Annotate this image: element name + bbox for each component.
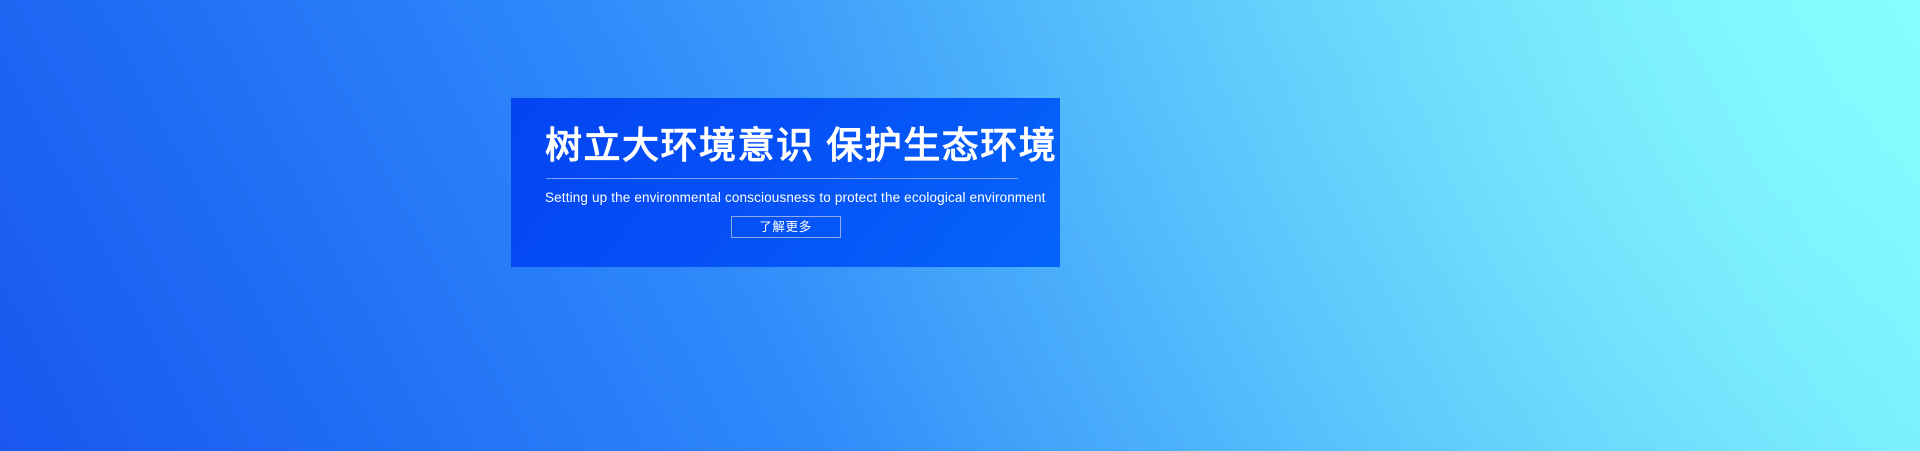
title-divider <box>546 178 1018 179</box>
hero-banner: 树立大环境意识 保护生态环境 Setting up the environmen… <box>0 0 1920 451</box>
learn-more-button[interactable]: 了解更多 <box>731 216 841 238</box>
cta-container: 了解更多 <box>545 216 1026 238</box>
hero-subtitle: Setting up the environmental consciousne… <box>545 188 1026 207</box>
hero-content-panel: 树立大环境意识 保护生态环境 Setting up the environmen… <box>511 98 1060 267</box>
hero-content-inner: 树立大环境意识 保护生态环境 Setting up the environmen… <box>545 98 1026 267</box>
page-title: 树立大环境意识 保护生态环境 <box>545 123 1026 169</box>
